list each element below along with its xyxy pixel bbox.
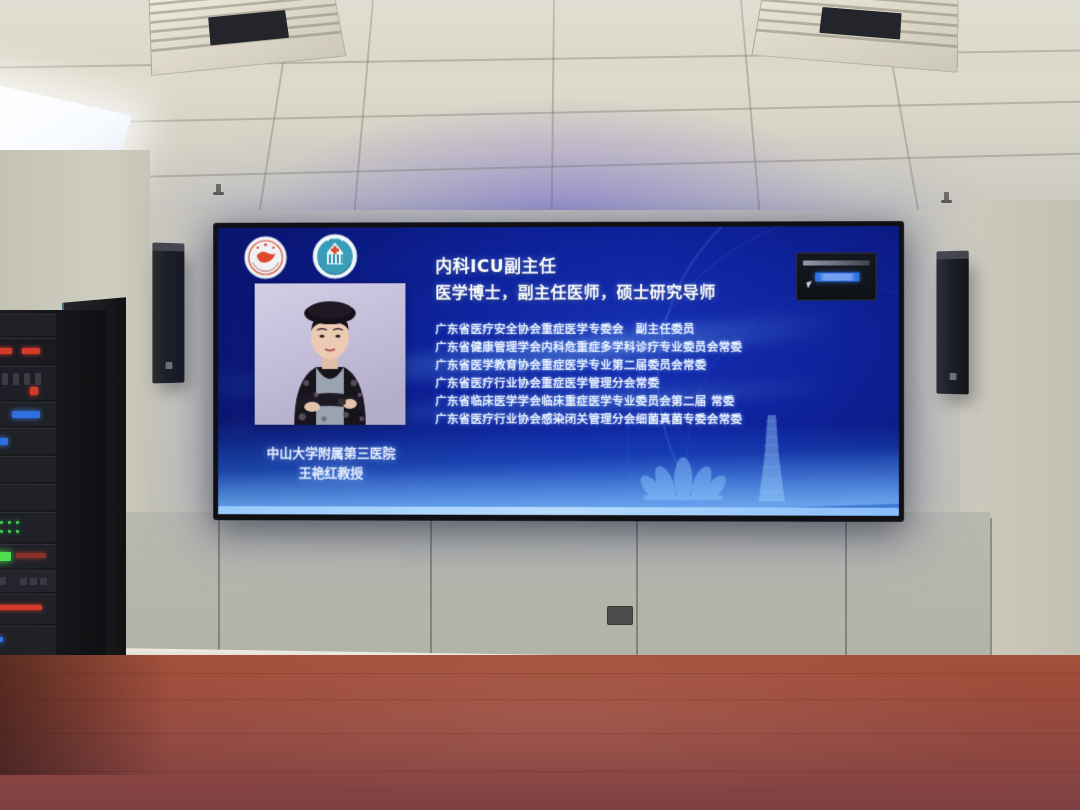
rack-unit-amplifier (0, 338, 56, 364)
sprinkler-head-right (944, 192, 949, 202)
wall-speaker-left (152, 250, 184, 384)
speaker-logo-right (949, 373, 956, 380)
slide-body-line-6: 广东省医疗行业协会感染闭关管理分会细菌真菌专委会常委 (435, 411, 742, 427)
mouse-cursor-icon (806, 281, 814, 289)
slide-body-line-4: 广东省医疗行业协会重症医学管理分会常委 (435, 375, 659, 391)
rack-unit-status (0, 512, 56, 542)
wall-panel-seam (430, 512, 432, 660)
rack-unit-display (0, 428, 56, 454)
hvac-diffuser-right (751, 0, 958, 73)
wall-panel-seam (636, 512, 638, 662)
av-equipment-rack (0, 310, 106, 662)
rack-unit-meter (0, 544, 56, 568)
slide-title-line-1: 内科ICU副主任 (435, 252, 556, 277)
slide-title-line-2: 医学博士，副主任医师，硕士研究导师 (435, 279, 716, 303)
pip-title-bar (803, 260, 870, 265)
floor-shadow (0, 655, 170, 775)
pip-join-button-label (815, 273, 859, 280)
pip-join-button[interactable] (815, 272, 859, 281)
slide-caption-institution: 中山大学附属第三医院 (238, 443, 424, 462)
slide-body-line-3: 广东省医学教育协会重症医学专业第二届委员会常委 (435, 357, 706, 373)
slide-caption-presenter: 王艳红教授 (238, 462, 424, 481)
presentation-slide: 内科ICU副主任 医学博士，副主任医师，硕士研究导师 广东省医疗安全协会重症医学… (218, 226, 899, 516)
room-photo: 内科ICU副主任 医学博士，副主任医师，硕士研究导师 广东省医疗安全协会重症医学… (0, 0, 1080, 810)
rack-unit-ups (0, 594, 56, 624)
hvac-diffuser-left (148, 0, 346, 76)
slide-body-line-2: 广东省健康管理学会内科危重症多学科诊疗专业委员会常委 (435, 339, 742, 355)
speaker-logo-left (165, 362, 172, 369)
slide-body-line-1: 广东省医疗安全协会重症医学专委会 副主任委员 (435, 321, 695, 337)
slide-body-line-5: 广东省临床医学学会临床重症医学专业委员会第二届 常委 (435, 393, 735, 409)
video-conference-window[interactable] (796, 252, 877, 300)
third-affiliated-hospital-emblem (312, 233, 358, 279)
sun-yat-sen-university-emblem (244, 236, 288, 280)
slide-bottom-edge (218, 506, 899, 516)
wall-speaker-right (936, 258, 968, 395)
kapok-flower-silhouette (640, 439, 726, 501)
sprinkler-head-left (216, 184, 221, 194)
rack-unit-controller (0, 402, 56, 426)
ceiling (0, 0, 1080, 232)
presenter-portrait (255, 283, 406, 425)
speaker-top-right (936, 251, 968, 260)
wall-panel-seam (218, 512, 220, 658)
canton-tower-silhouette (755, 415, 789, 503)
led-video-wall[interactable]: 内科ICU副主任 医学博士，副主任医师，硕士研究导师 广东省医疗安全协会重症医学… (213, 221, 904, 522)
wall-panel-seam (845, 512, 847, 664)
speaker-top-left (152, 243, 184, 252)
rack-unit-mixer (0, 366, 56, 400)
wall-panel-seam (990, 518, 992, 668)
wall-panel-lower (110, 512, 990, 664)
wall-outlet-plate[interactable] (607, 606, 633, 625)
rack-unit-player (0, 570, 56, 592)
